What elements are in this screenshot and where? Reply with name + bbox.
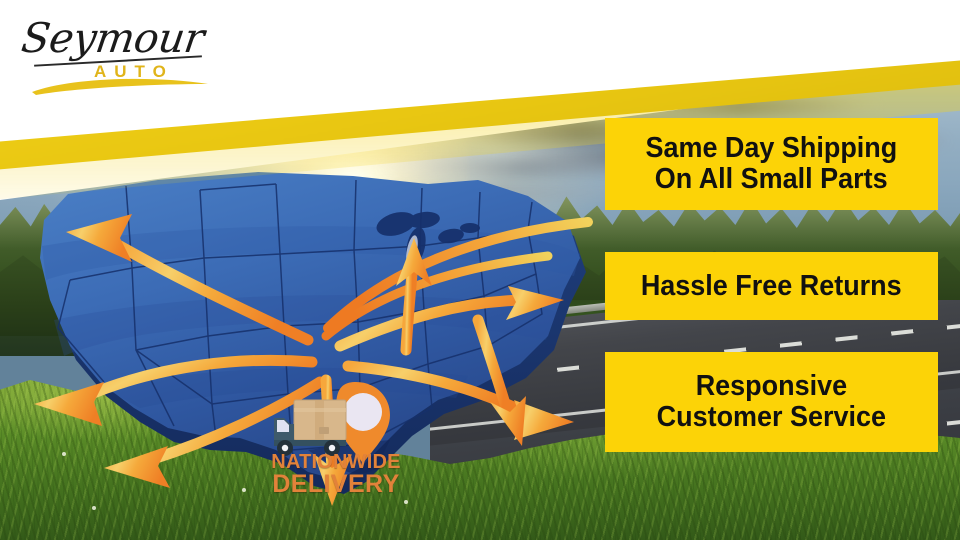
cargo-box-label [319,427,329,434]
arrow-stroke [406,274,412,350]
logo-swoosh-icon [30,74,210,96]
promo-banner: NATIONWIDE DELIVERY Seymour AUTO Same Da… [0,0,960,540]
panel-3-line-2: Customer Service [657,402,886,433]
delivery-label: DELIVERY [261,472,411,498]
panel-1-line-2: On All Small Parts [655,164,888,195]
nationwide-delivery-text: NATIONWIDE DELIVERY [261,452,411,498]
cargo-box-band [294,408,346,412]
panel-responsive-customer-service[interactable]: Responsive Customer Service [605,352,938,452]
seymour-auto-logo[interactable]: Seymour AUTO [22,14,212,98]
panel-2-line-1: Hassle Free Returns [641,271,902,302]
nationwide-label: NATIONWIDE [261,452,411,472]
arrow-head [34,382,104,426]
panel-hassle-free-returns[interactable]: Hassle Free Returns [605,252,938,320]
panel-3-line-1: Responsive [696,371,847,402]
logo-brand-name: Seymour [19,14,207,62]
panel-1-line-1: Same Day Shipping [646,133,898,164]
arrow-head [104,446,170,488]
panel-same-day-shipping[interactable]: Same Day Shipping On All Small Parts [605,118,938,210]
usa-map-graphic: NATIONWIDE DELIVERY [8,150,628,510]
map-pin-center [344,393,382,431]
